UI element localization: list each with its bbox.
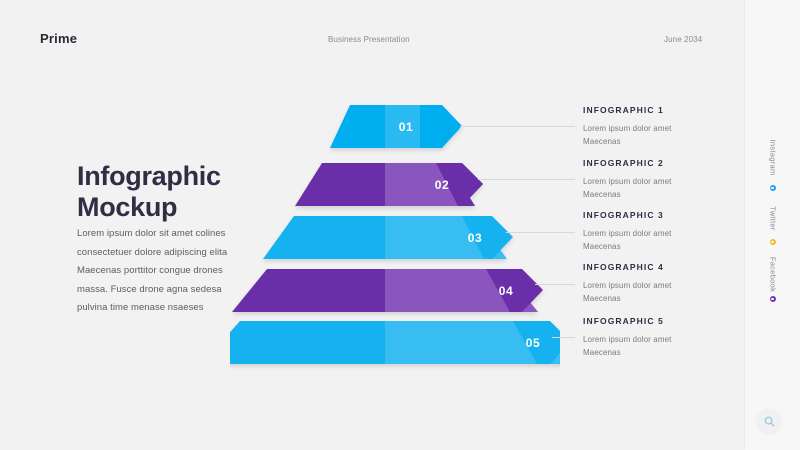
- infographic-item-1[interactable]: INFOGRAPHIC 1 Lorem ipsum dolor amet Mae…: [583, 105, 733, 148]
- slide-canvas: Prime Business Presentation June 2034 In…: [0, 0, 800, 450]
- connector-line-5: [552, 337, 575, 338]
- tier-3-left-face: [263, 216, 385, 259]
- brand-logo: Prime: [40, 31, 77, 46]
- infographic-description: Lorem ipsum dolor amet Maecenas: [583, 227, 693, 253]
- tier-5-number: 05: [526, 336, 541, 350]
- pyramid-tier-1[interactable]: 01: [330, 105, 462, 148]
- facebook-dot-icon[interactable]: [770, 296, 776, 302]
- deck-date: June 2034: [664, 35, 702, 44]
- pyramid-tier-3[interactable]: 03: [263, 216, 513, 259]
- tier-4-number: 04: [499, 284, 514, 298]
- intro-paragraph: Lorem ipsum dolor sit amet colines conse…: [77, 225, 252, 318]
- infographic-title: INFOGRAPHIC 5: [583, 316, 733, 326]
- twitter-dot-icon[interactable]: [770, 239, 776, 245]
- infographic-title: INFOGRAPHIC 4: [583, 262, 733, 272]
- tier-1-number: 01: [399, 120, 414, 134]
- pyramid-tier-2[interactable]: 02: [295, 163, 483, 206]
- pyramid-tier-5[interactable]: 05: [230, 321, 560, 364]
- infographic-description: Lorem ipsum dolor amet Maecenas: [583, 333, 693, 359]
- connector-line-1: [460, 126, 575, 127]
- rail-item-facebook[interactable]: Facebook: [768, 257, 777, 292]
- infographic-description: Lorem ipsum dolor amet Maecenas: [583, 122, 693, 148]
- search-button[interactable]: [757, 409, 781, 433]
- instagram-dot-icon[interactable]: [770, 185, 776, 191]
- social-rail: Instagram Twitter Facebook: [745, 0, 800, 450]
- tier-1-arrow: [420, 105, 462, 148]
- connector-line-4: [535, 284, 575, 285]
- infographic-item-2[interactable]: INFOGRAPHIC 2 Lorem ipsum dolor amet Mae…: [583, 158, 733, 201]
- tier-5-left-face: [230, 321, 385, 364]
- pyramid-tier-4[interactable]: 04: [232, 269, 543, 312]
- rail-item-instagram[interactable]: Instagram: [768, 139, 777, 175]
- tier-4-left-face: [232, 269, 385, 312]
- infographic-description: Lorem ipsum dolor amet Maecenas: [583, 279, 693, 305]
- infographic-description: Lorem ipsum dolor amet Maecenas: [583, 175, 693, 201]
- tier-3-number: 03: [468, 231, 483, 245]
- search-icon: [764, 416, 775, 427]
- tier-2-number: 02: [435, 178, 450, 192]
- infographic-title: INFOGRAPHIC 1: [583, 105, 733, 115]
- connector-line-2: [478, 179, 575, 180]
- infographic-title: INFOGRAPHIC 2: [583, 158, 733, 168]
- deck-subtitle: Business Presentation: [328, 35, 410, 44]
- pyramid-chart: 01 02 03 04: [230, 92, 560, 382]
- infographic-title: INFOGRAPHIC 3: [583, 210, 733, 220]
- infographic-item-5[interactable]: INFOGRAPHIC 5 Lorem ipsum dolor amet Mae…: [583, 316, 733, 359]
- infographic-item-3[interactable]: INFOGRAPHIC 3 Lorem ipsum dolor amet Mae…: [583, 210, 733, 253]
- rail-item-twitter[interactable]: Twitter: [768, 206, 777, 230]
- tier-1-left-face: [330, 105, 385, 148]
- connector-line-3: [506, 232, 575, 233]
- tier-2-left-face: [295, 163, 385, 206]
- infographic-item-4[interactable]: INFOGRAPHIC 4 Lorem ipsum dolor amet Mae…: [583, 262, 733, 305]
